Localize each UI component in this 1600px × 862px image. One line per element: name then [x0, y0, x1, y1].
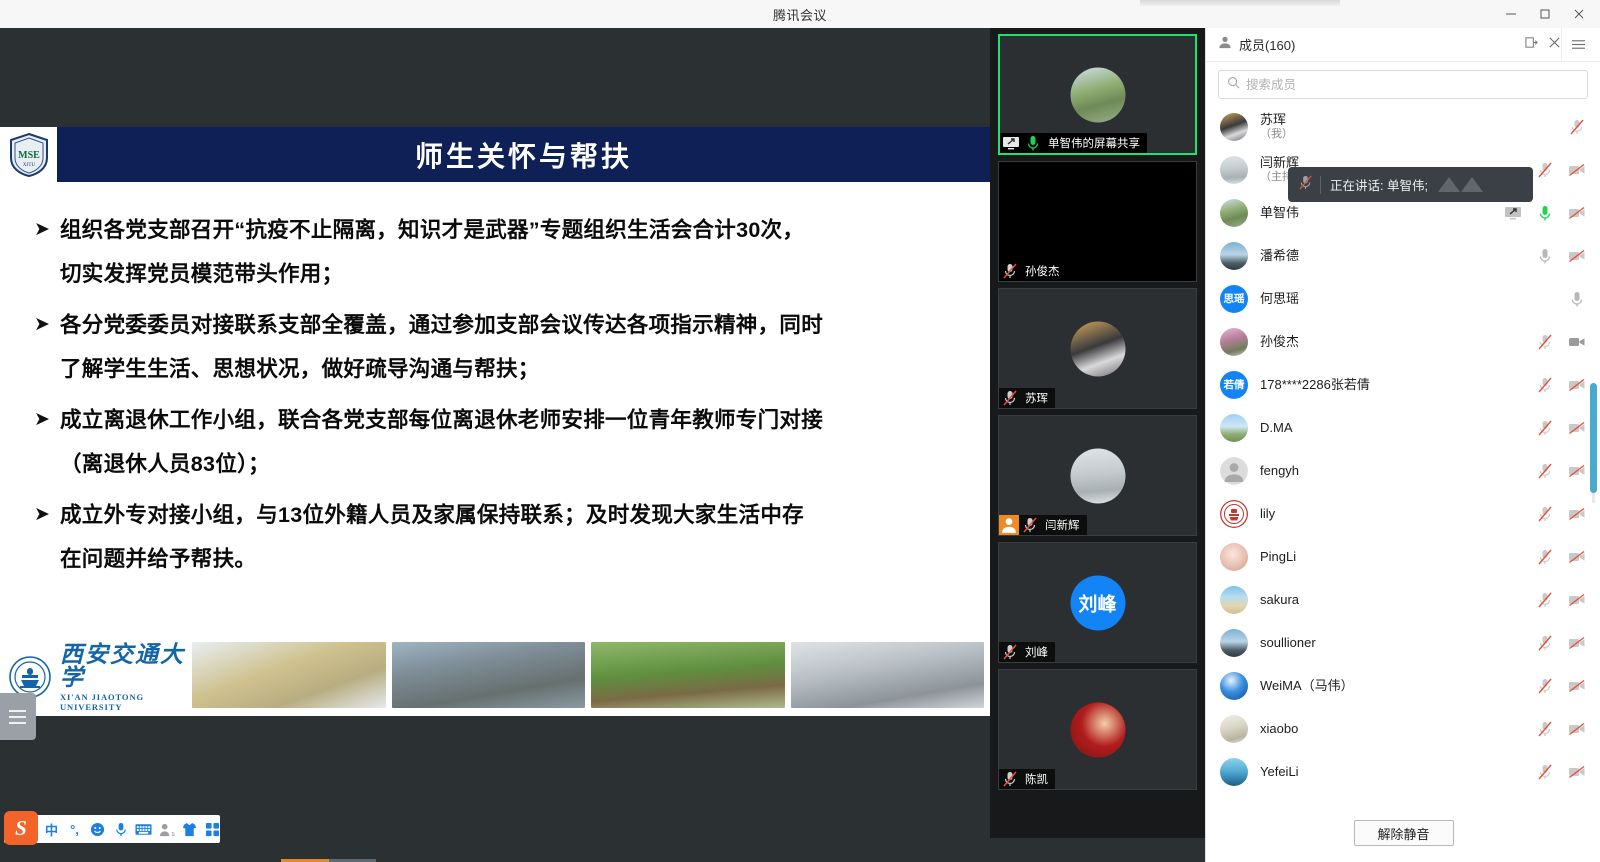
participant-row[interactable]: xiaobo	[1206, 707, 1600, 750]
hamburger-icon[interactable]	[1561, 28, 1594, 62]
participant-name-block: PingLi	[1260, 549, 1296, 564]
bullet-line: 在问题并给予帮扶。	[60, 537, 804, 581]
participant-avatar: 思瑶	[1220, 285, 1248, 313]
bullet-marker-icon: ➤	[34, 208, 60, 252]
mic-muted-icon[interactable]	[1536, 419, 1554, 437]
participant-row[interactable]: WeiMA（马伟）	[1206, 664, 1600, 707]
xjtu-wordmark: 西安交通大学 XI'AN JIAOTONG UNIVERSITY	[60, 643, 192, 712]
bullet-line: （离退休人员83位）；	[60, 442, 823, 486]
mic-muted-icon	[999, 643, 1021, 661]
bullet-line: 成立外专对接小组，与13位外籍人员及家属保持联系；及时发现大家生活中存	[60, 493, 804, 537]
audio-wave-icon	[1438, 177, 1483, 192]
tile-namebar: 闫新辉	[999, 515, 1087, 535]
participant-row[interactable]: 思瑶何思瑶	[1206, 277, 1600, 320]
mic-on-icon[interactable]	[1536, 204, 1554, 222]
search-box[interactable]	[1218, 70, 1588, 99]
participant-avatar	[1220, 586, 1248, 614]
xjtu-name-cn: 西安交通大学	[60, 643, 192, 689]
apps-icon[interactable]	[201, 815, 224, 843]
participant-avatar	[1220, 199, 1248, 227]
participant-row[interactable]: sakura	[1206, 578, 1600, 621]
tile-namebar: 苏珲	[999, 388, 1055, 408]
participant-controls	[1536, 505, 1586, 523]
bullet-line: 组织各党支部召开“抗疫不止隔离，知识才是武器”专题组织生活会合计30次，	[60, 208, 804, 252]
bullet-text: 成立外专对接小组，与13位外籍人员及家属保持联系；及时发现大家生活中存在问题并给…	[60, 493, 804, 581]
sogou-logo-icon[interactable]: S	[4, 811, 38, 845]
participant-controls	[1536, 161, 1586, 179]
host-badge-icon	[999, 515, 1019, 535]
bullet-marker-icon: ➤	[34, 398, 60, 442]
screen-share-icon	[1000, 134, 1022, 152]
ime-toolbar[interactable]: S 中 °, 10	[4, 815, 220, 843]
slide-bullet: ➤成立离退休工作小组，联合各党支部每位离退休老师安排一位青年教师专门对接（离退休…	[34, 398, 972, 486]
video-tile[interactable]: 陈凯	[998, 669, 1197, 790]
participant-name: PingLi	[1260, 549, 1296, 564]
footer-photo	[192, 642, 386, 708]
participants-panel: 成员(160) 苏珲（我）闫新辉（主持人）单智伟潘希德思瑶何思瑶	[1205, 28, 1600, 862]
camera-icon[interactable]	[1568, 333, 1586, 351]
xjtu-name-en: XI'AN JIAOTONG UNIVERSITY	[60, 692, 192, 712]
tile-name: 孙俊杰	[1025, 263, 1060, 279]
mic-muted-icon[interactable]	[1536, 462, 1554, 480]
camera-off-icon[interactable]	[1568, 591, 1586, 609]
participant-avatar: 若倩	[1220, 371, 1248, 399]
slide-footer: 西安交通大学 XI'AN JIAOTONG UNIVERSITY	[0, 638, 990, 716]
participant-name-block: xiaobo	[1260, 721, 1298, 736]
mic-muted-icon[interactable]	[1536, 333, 1554, 351]
footer-photo	[791, 642, 985, 708]
participant-controls	[1536, 333, 1586, 351]
mic-icon[interactable]	[1536, 247, 1554, 265]
ime-lang-zh[interactable]: 中	[40, 815, 63, 843]
participant-avatar	[1220, 414, 1248, 442]
close-icon[interactable]	[1562, 0, 1596, 28]
unmute-button[interactable]: 解除静音	[1354, 820, 1454, 846]
participants-list[interactable]: 苏珲（我）闫新辉（主持人）单智伟潘希德思瑶何思瑶孙俊杰若倩178****2286…	[1206, 105, 1600, 804]
participant-name: D.MA	[1260, 420, 1293, 435]
mic-icon[interactable]	[1568, 290, 1586, 308]
panel-header-actions	[1525, 36, 1561, 54]
tile-avatar	[1070, 321, 1125, 376]
bullet-line: 各分党委委员对接联系支部全覆盖，通过参加支部会议传达各项指示精神，同时	[60, 303, 823, 347]
search-icon	[1227, 76, 1240, 94]
bullet-text: 各分党委委员对接联系支部全覆盖，通过参加支部会议传达各项指示精神，同时了解学生生…	[60, 303, 823, 391]
participant-avatar	[1220, 242, 1248, 270]
participant-name-block: 何思瑶	[1260, 291, 1299, 306]
participant-name-block: 178****2286张若倩	[1260, 377, 1370, 392]
bullet-text: 组织各党支部召开“抗疫不止隔离，知识才是武器”专题组织生活会合计30次，切实发挥…	[60, 208, 804, 296]
participant-row[interactable]: 若倩178****2286张若倩	[1206, 363, 1600, 406]
footer-photo	[591, 642, 785, 708]
camera-off-icon[interactable]	[1568, 376, 1586, 394]
participants-count-label: 成员(160)	[1239, 35, 1295, 54]
svg-text:10: 10	[171, 832, 175, 837]
participant-name-block: YefeiLi	[1260, 764, 1299, 779]
participant-name: fengyh	[1260, 463, 1299, 478]
mic-muted-icon[interactable]	[1536, 720, 1554, 738]
video-tile[interactable]: 单智伟的屏幕共享	[998, 34, 1197, 155]
keyboard-icon[interactable]	[132, 815, 155, 843]
mic-muted-icon[interactable]	[1536, 548, 1554, 566]
window-titlebar: 腾讯会议	[0, 0, 1600, 28]
mic-muted-icon	[999, 262, 1021, 280]
participant-name-block: 苏珲（我）	[1260, 112, 1293, 141]
mic-muted-icon[interactable]	[1568, 118, 1586, 136]
window-controls	[1494, 0, 1596, 28]
svg-text:XJTU: XJTU	[22, 163, 35, 168]
camera-off-icon[interactable]	[1568, 247, 1586, 265]
participant-avatar	[1220, 629, 1248, 657]
tile-namebar: 单智伟的屏幕共享	[1000, 133, 1147, 153]
slide-title-banner: 师生关怀与帮扶	[57, 127, 990, 182]
participant-row[interactable]: fengyh	[1206, 449, 1600, 492]
mic-on-icon	[1022, 134, 1044, 152]
mic-muted-icon[interactable]	[1536, 591, 1554, 609]
ime-punctuation[interactable]: °,	[63, 815, 86, 843]
participant-name-block: 单智伟	[1260, 205, 1299, 220]
video-tile[interactable]: 孙俊杰	[998, 161, 1197, 282]
tile-avatar: 刘峰	[1070, 575, 1125, 630]
video-tile[interactable]: 闫新辉	[998, 415, 1197, 536]
participants-panel-header: 成员(160)	[1206, 28, 1600, 62]
tile-name: 苏珲	[1025, 390, 1048, 406]
titlebar-highlight	[1140, 0, 1340, 6]
ime-items: 中 °, 10	[40, 815, 224, 843]
slide-title: 师生关怀与帮扶	[415, 135, 632, 175]
participant-controls	[1536, 548, 1586, 566]
participant-avatar	[1220, 758, 1248, 786]
tile-namebar: 刘峰	[999, 642, 1055, 662]
tile-namebar: 孙俊杰	[999, 261, 1067, 281]
slide-float-toolbar[interactable]	[0, 693, 36, 740]
slide-bullet: ➤成立外专对接小组，与13位外籍人员及家属保持联系；及时发现大家生活中存在问题并…	[34, 493, 972, 581]
video-filmstrip[interactable]: 单智伟的屏幕共享孙俊杰苏珲闫新辉刘峰刘峰陈凯	[990, 28, 1205, 838]
video-tile[interactable]: 苏珲	[998, 288, 1197, 409]
toolbar-line	[9, 722, 26, 724]
footer-photo	[392, 642, 586, 708]
svg-text:MSE: MSE	[18, 150, 40, 161]
presentation-slide: MSE XJTU 师生关怀与帮扶 ➤组织各党支部召开“抗疫不止隔离，知识才是武器…	[0, 127, 990, 716]
mic-muted-icon[interactable]	[1536, 677, 1554, 695]
mic-icon[interactable]	[109, 815, 132, 843]
mic-muted-icon[interactable]	[1536, 161, 1554, 179]
smiley-icon[interactable]	[86, 815, 109, 843]
participant-name-block: WeiMA（马伟）	[1260, 678, 1354, 693]
participant-controls	[1536, 634, 1586, 652]
participant-name: sakura	[1260, 592, 1299, 607]
participant-name-block: sakura	[1260, 592, 1299, 607]
participant-avatar	[1220, 457, 1248, 485]
participant-name: 178****2286张若倩	[1260, 377, 1370, 392]
camera-off-icon[interactable]	[1568, 505, 1586, 523]
camera-off-icon[interactable]	[1568, 462, 1586, 480]
speaking-tooltip: 正在讲话: 单智伟;	[1288, 167, 1533, 202]
participant-row[interactable]: PingLi	[1206, 535, 1600, 578]
bullet-line: 成立离退休工作小组，联合各党支部每位离退休老师安排一位青年教师专门对接	[60, 398, 823, 442]
participant-controls	[1504, 204, 1586, 222]
mic-muted-icon[interactable]	[1536, 763, 1554, 781]
participants-panel-footer: 解除静音	[1206, 804, 1600, 862]
camera-off-icon[interactable]	[1568, 161, 1586, 179]
participant-controls	[1536, 419, 1586, 437]
slide-header: MSE XJTU 师生关怀与帮扶	[0, 127, 990, 182]
tile-name: 刘峰	[1025, 644, 1048, 660]
tile-name: 单智伟的屏幕共享	[1048, 135, 1140, 151]
toolbar-line	[9, 710, 26, 712]
mic-muted-icon	[999, 770, 1021, 788]
tile-avatar	[1070, 702, 1125, 757]
participant-controls	[1536, 720, 1586, 738]
participant-row[interactable]: 苏珲（我）	[1206, 105, 1600, 148]
participant-row[interactable]: soullioner	[1206, 621, 1600, 664]
participant-avatar	[1220, 328, 1248, 356]
shirt-icon[interactable]	[178, 815, 201, 843]
participant-name: 何思瑶	[1260, 291, 1299, 306]
mic-muted-icon	[1019, 516, 1041, 534]
camera-off-icon[interactable]	[1568, 634, 1586, 652]
maximize-icon[interactable]	[1528, 0, 1562, 28]
participant-name: xiaobo	[1260, 721, 1298, 736]
participant-avatar	[1220, 672, 1248, 700]
participant-avatar	[1220, 715, 1248, 743]
mic-muted-icon	[1298, 174, 1313, 196]
close-icon[interactable]	[1548, 36, 1561, 54]
video-tile[interactable]: 刘峰刘峰	[998, 542, 1197, 663]
tile-avatar	[1070, 448, 1125, 503]
camera-off-icon[interactable]	[1568, 677, 1586, 695]
minimize-icon[interactable]	[1494, 0, 1528, 28]
participant-name-block: 孙俊杰	[1260, 334, 1299, 349]
mic-muted-icon[interactable]	[1536, 376, 1554, 394]
participant-role: （我）	[1260, 127, 1293, 141]
bullet-marker-icon: ➤	[34, 303, 60, 347]
participant-controls	[1536, 247, 1586, 265]
participant-row[interactable]: 潘希德	[1206, 234, 1600, 277]
camera-off-icon[interactable]	[1568, 419, 1586, 437]
participant-controls	[1536, 677, 1586, 695]
tile-avatar	[1070, 67, 1125, 122]
participant-controls	[1536, 376, 1586, 394]
participant-row[interactable]: YefeiLi	[1206, 750, 1600, 793]
participant-name-block: soullioner	[1260, 635, 1316, 650]
bullet-text: 成立离退休工作小组，联合各党支部每位离退休老师安排一位青年教师专门对接（离退休人…	[60, 398, 823, 486]
slide-body: ➤组织各党支部召开“抗疫不止隔离，知识才是武器”专题组织生活会合计30次，切实发…	[0, 182, 990, 581]
participant-controls	[1536, 763, 1586, 781]
participant-name-block: lily	[1260, 506, 1275, 521]
participant-name-block: 潘希德	[1260, 248, 1299, 263]
tile-name: 陈凯	[1025, 771, 1048, 787]
bullet-line: 切实发挥党员模范带头作用；	[60, 252, 804, 296]
tooltip-divider	[1320, 176, 1321, 194]
participant-row[interactable]: 孙俊杰	[1206, 320, 1600, 363]
tile-name: 闫新辉	[1045, 517, 1080, 533]
participant-row[interactable]: lily	[1206, 492, 1600, 535]
participant-row[interactable]: D.MA	[1206, 406, 1600, 449]
participant-controls	[1568, 290, 1586, 308]
participant-name: YefeiLi	[1260, 764, 1299, 779]
popout-icon[interactable]	[1525, 36, 1538, 54]
participant-controls	[1536, 462, 1586, 480]
mic-muted-icon	[999, 389, 1021, 407]
participant-name: 苏珲	[1260, 112, 1293, 127]
participant-avatar	[1220, 543, 1248, 571]
bullet-marker-icon: ➤	[34, 493, 60, 537]
slide-bullet: ➤各分党委委员对接联系支部全覆盖，通过参加支部会议传达各项指示精神，同时了解学生…	[34, 303, 972, 391]
participant-avatar	[1220, 113, 1248, 141]
camera-off-icon[interactable]	[1568, 720, 1586, 738]
toolbar-line	[9, 716, 26, 718]
footer-photo-strip	[192, 638, 990, 716]
user-10-icon[interactable]: 10	[155, 815, 178, 843]
mic-muted-icon[interactable]	[1536, 505, 1554, 523]
participant-name-block: fengyh	[1260, 463, 1299, 478]
scrollbar-thumb[interactable]	[1590, 383, 1597, 493]
participant-name: 单智伟	[1260, 205, 1299, 220]
window-title: 腾讯会议	[773, 5, 827, 24]
person-icon	[1218, 35, 1232, 54]
participants-scrollbar[interactable]	[1590, 383, 1597, 503]
participant-name: soullioner	[1260, 635, 1316, 650]
mic-muted-icon[interactable]	[1536, 634, 1554, 652]
mse-xjtu-shield-icon: MSE XJTU	[0, 127, 57, 182]
meeting-window: 腾讯会议 MSE XJTU	[0, 0, 1600, 862]
participant-controls	[1536, 591, 1586, 609]
participant-controls	[1568, 118, 1586, 136]
search-area	[1206, 62, 1600, 105]
participant-name: lily	[1260, 506, 1275, 521]
camera-off-icon[interactable]	[1568, 763, 1586, 781]
camera-off-icon[interactable]	[1568, 548, 1586, 566]
participant-name-block: D.MA	[1260, 420, 1293, 435]
participant-name: WeiMA（马伟）	[1260, 678, 1354, 693]
tile-namebar: 陈凯	[999, 769, 1055, 789]
participant-name: 潘希德	[1260, 248, 1299, 263]
search-input[interactable]	[1246, 78, 1579, 92]
speaking-text: 正在讲话: 单智伟;	[1330, 175, 1428, 194]
slide-bullet: ➤组织各党支部召开“抗疫不止隔离，知识才是武器”专题组织生活会合计30次，切实发…	[34, 208, 972, 296]
participant-avatar	[1220, 156, 1248, 184]
participant-avatar	[1220, 500, 1248, 528]
bullet-line: 了解学生生活、思想状况，做好疏导沟通与帮扶；	[60, 347, 823, 391]
screen-share-icon[interactable]	[1504, 204, 1522, 222]
shared-screen-stage[interactable]: MSE XJTU 师生关怀与帮扶 ➤组织各党支部召开“抗疫不止隔离，知识才是武器…	[0, 28, 990, 838]
camera-off-icon[interactable]	[1568, 204, 1586, 222]
participant-name: 孙俊杰	[1260, 334, 1299, 349]
